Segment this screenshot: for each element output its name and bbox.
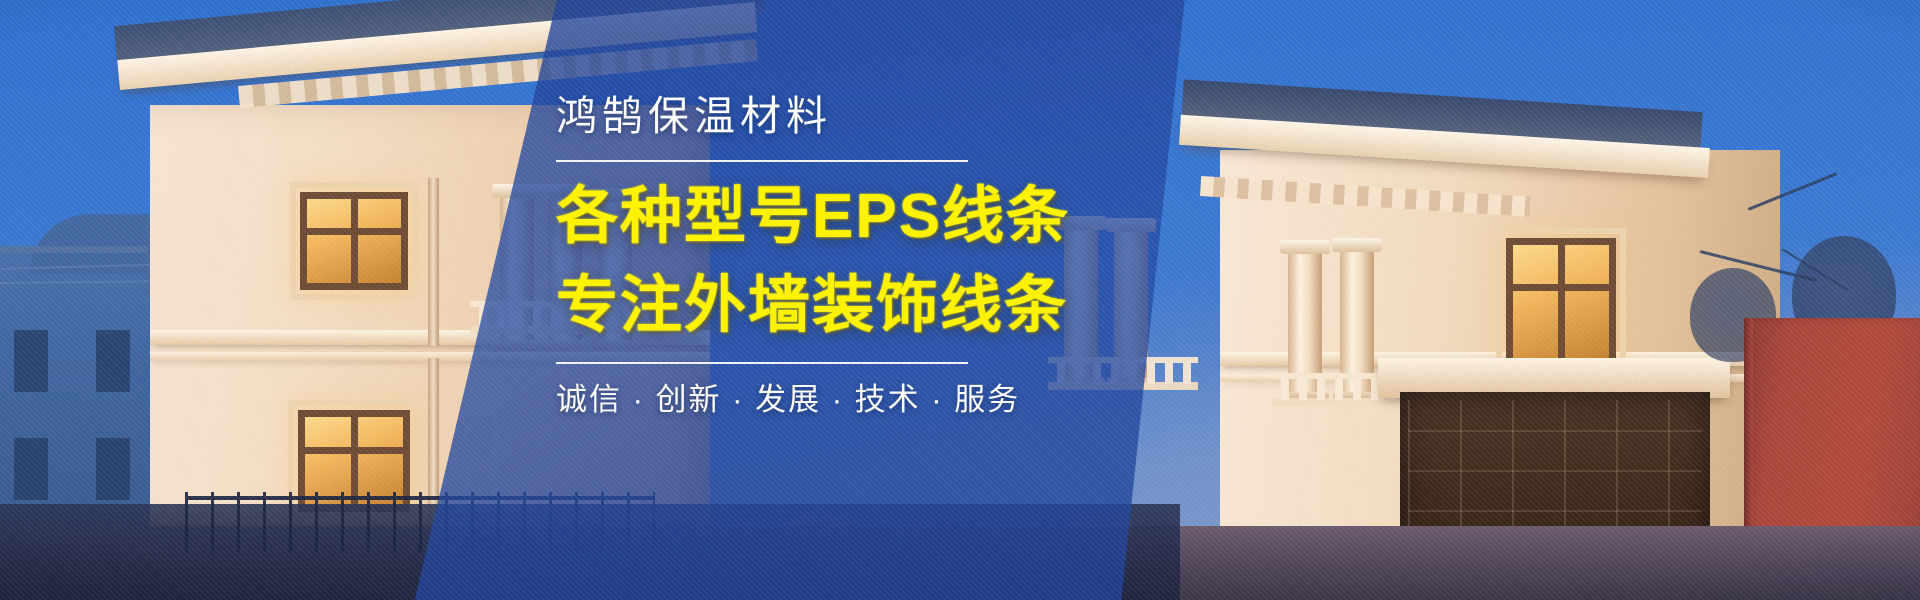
hero-banner: 鸿鹄保温材料 各种型号EPS线条 专注外墙装饰线条 诚信 · 创新 · 发展 ·… [0,0,1920,600]
divider-top [556,160,968,162]
divider-bottom [556,362,968,364]
headline-line-1: 各种型号EPS线条 [556,184,1246,251]
banner-copy: 鸿鹄保温材料 各种型号EPS线条 专注外墙装饰线条 诚信 · 创新 · 发展 ·… [556,96,1246,415]
tagline: 诚信 · 创新 · 发展 · 技术 · 服务 [556,384,1246,415]
headline-line-2: 专注外墙装饰线条 [556,273,1246,340]
brand-name: 鸿鹄保温材料 [556,96,1246,137]
